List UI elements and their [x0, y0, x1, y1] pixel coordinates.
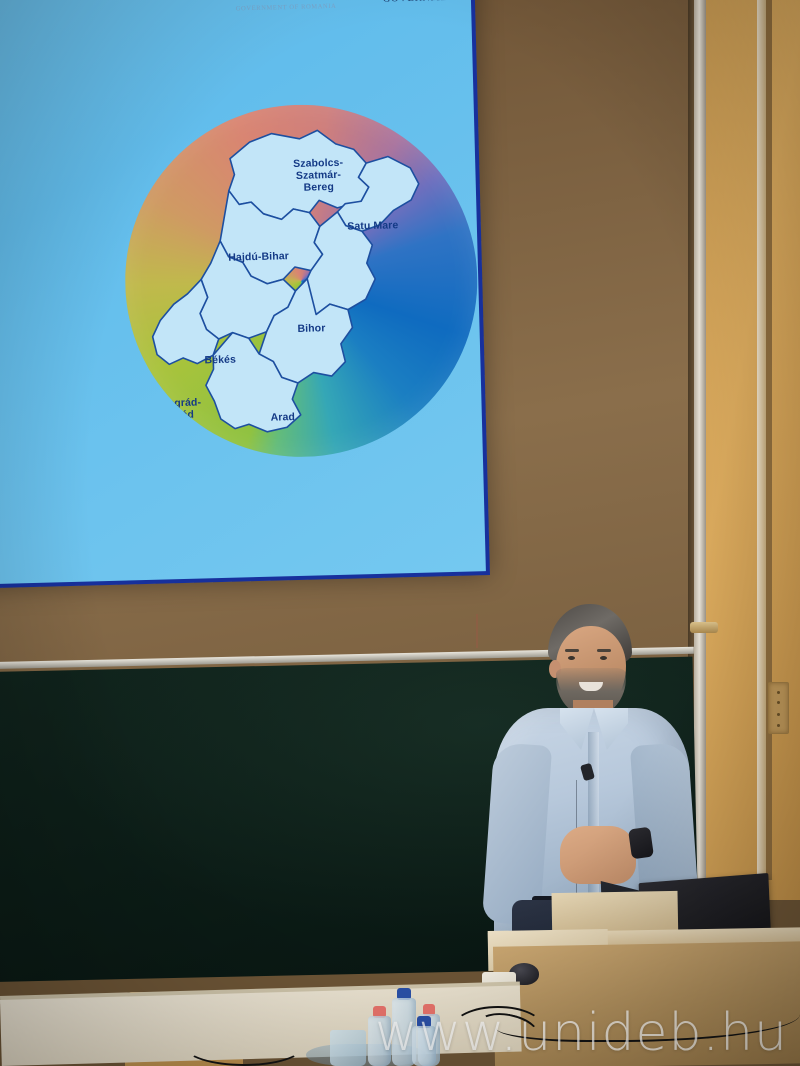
- county-label-bekes: Békés: [185, 354, 255, 368]
- county-label-satu-mare: Satu Mare: [330, 220, 416, 234]
- presenter-eyebrow-right: [597, 649, 611, 652]
- right-wall-panel: [703, 0, 800, 900]
- projection-screen: ROMÂNIEI GOVERNMENT OF ROMANIA HUNGARIAN…: [0, 0, 490, 591]
- light-switch-plate[interactable]: [768, 682, 789, 734]
- cable-loop-3: [184, 1026, 304, 1066]
- romania-logo-caption: GOVERNMENT OF ROMANIA: [226, 3, 346, 13]
- presenter-eye-left: [568, 656, 575, 660]
- county-label-arad: Arad: [251, 412, 315, 425]
- cross-border-county-map: Szabolcs- Szatmár- Bereg Satu Mare Hajdú…: [121, 100, 482, 461]
- presenter-eye-right: [600, 656, 607, 660]
- slide-logo-row: ROMÂNIEI GOVERNMENT OF ROMANIA HUNGARIAN…: [0, 0, 472, 42]
- government-of-romania-logo: ROMÂNIEI GOVERNMENT OF ROMANIA: [224, 0, 346, 13]
- door-frame-dark: [766, 0, 772, 880]
- wristwatch: [628, 827, 654, 860]
- presenter-clasped-hands: [560, 826, 636, 884]
- county-label-bihor: Bihor: [276, 323, 346, 337]
- water-bottle-blue-cap-short: [412, 1016, 436, 1066]
- water-bottle-pink-cap-front: [368, 1006, 391, 1066]
- lecture-hall-photo: ROMÂNIEI GOVERNMENT OF ROMANIA HUNGARIAN…: [0, 0, 800, 1066]
- hungary-logo-caption-line2: GOVERNMENT: [358, 0, 486, 7]
- presentation-slide: ROMÂNIEI GOVERNMENT OF ROMANIA HUNGARIAN…: [0, 0, 486, 587]
- drinking-glass: [330, 1030, 366, 1066]
- hungarian-government-logo: HUNGARIAN GOVERNMENT: [357, 0, 486, 7]
- presenter-eyebrow-left: [565, 649, 579, 652]
- county-label-szabolcs: Szabolcs- Szatmár- Bereg: [270, 157, 367, 195]
- county-label-csongrad-csanad: Csongrád- Csanád: [126, 397, 223, 423]
- screen-border: ROMÂNIEI GOVERNMENT OF ROMANIA HUNGARIAN…: [0, 0, 490, 591]
